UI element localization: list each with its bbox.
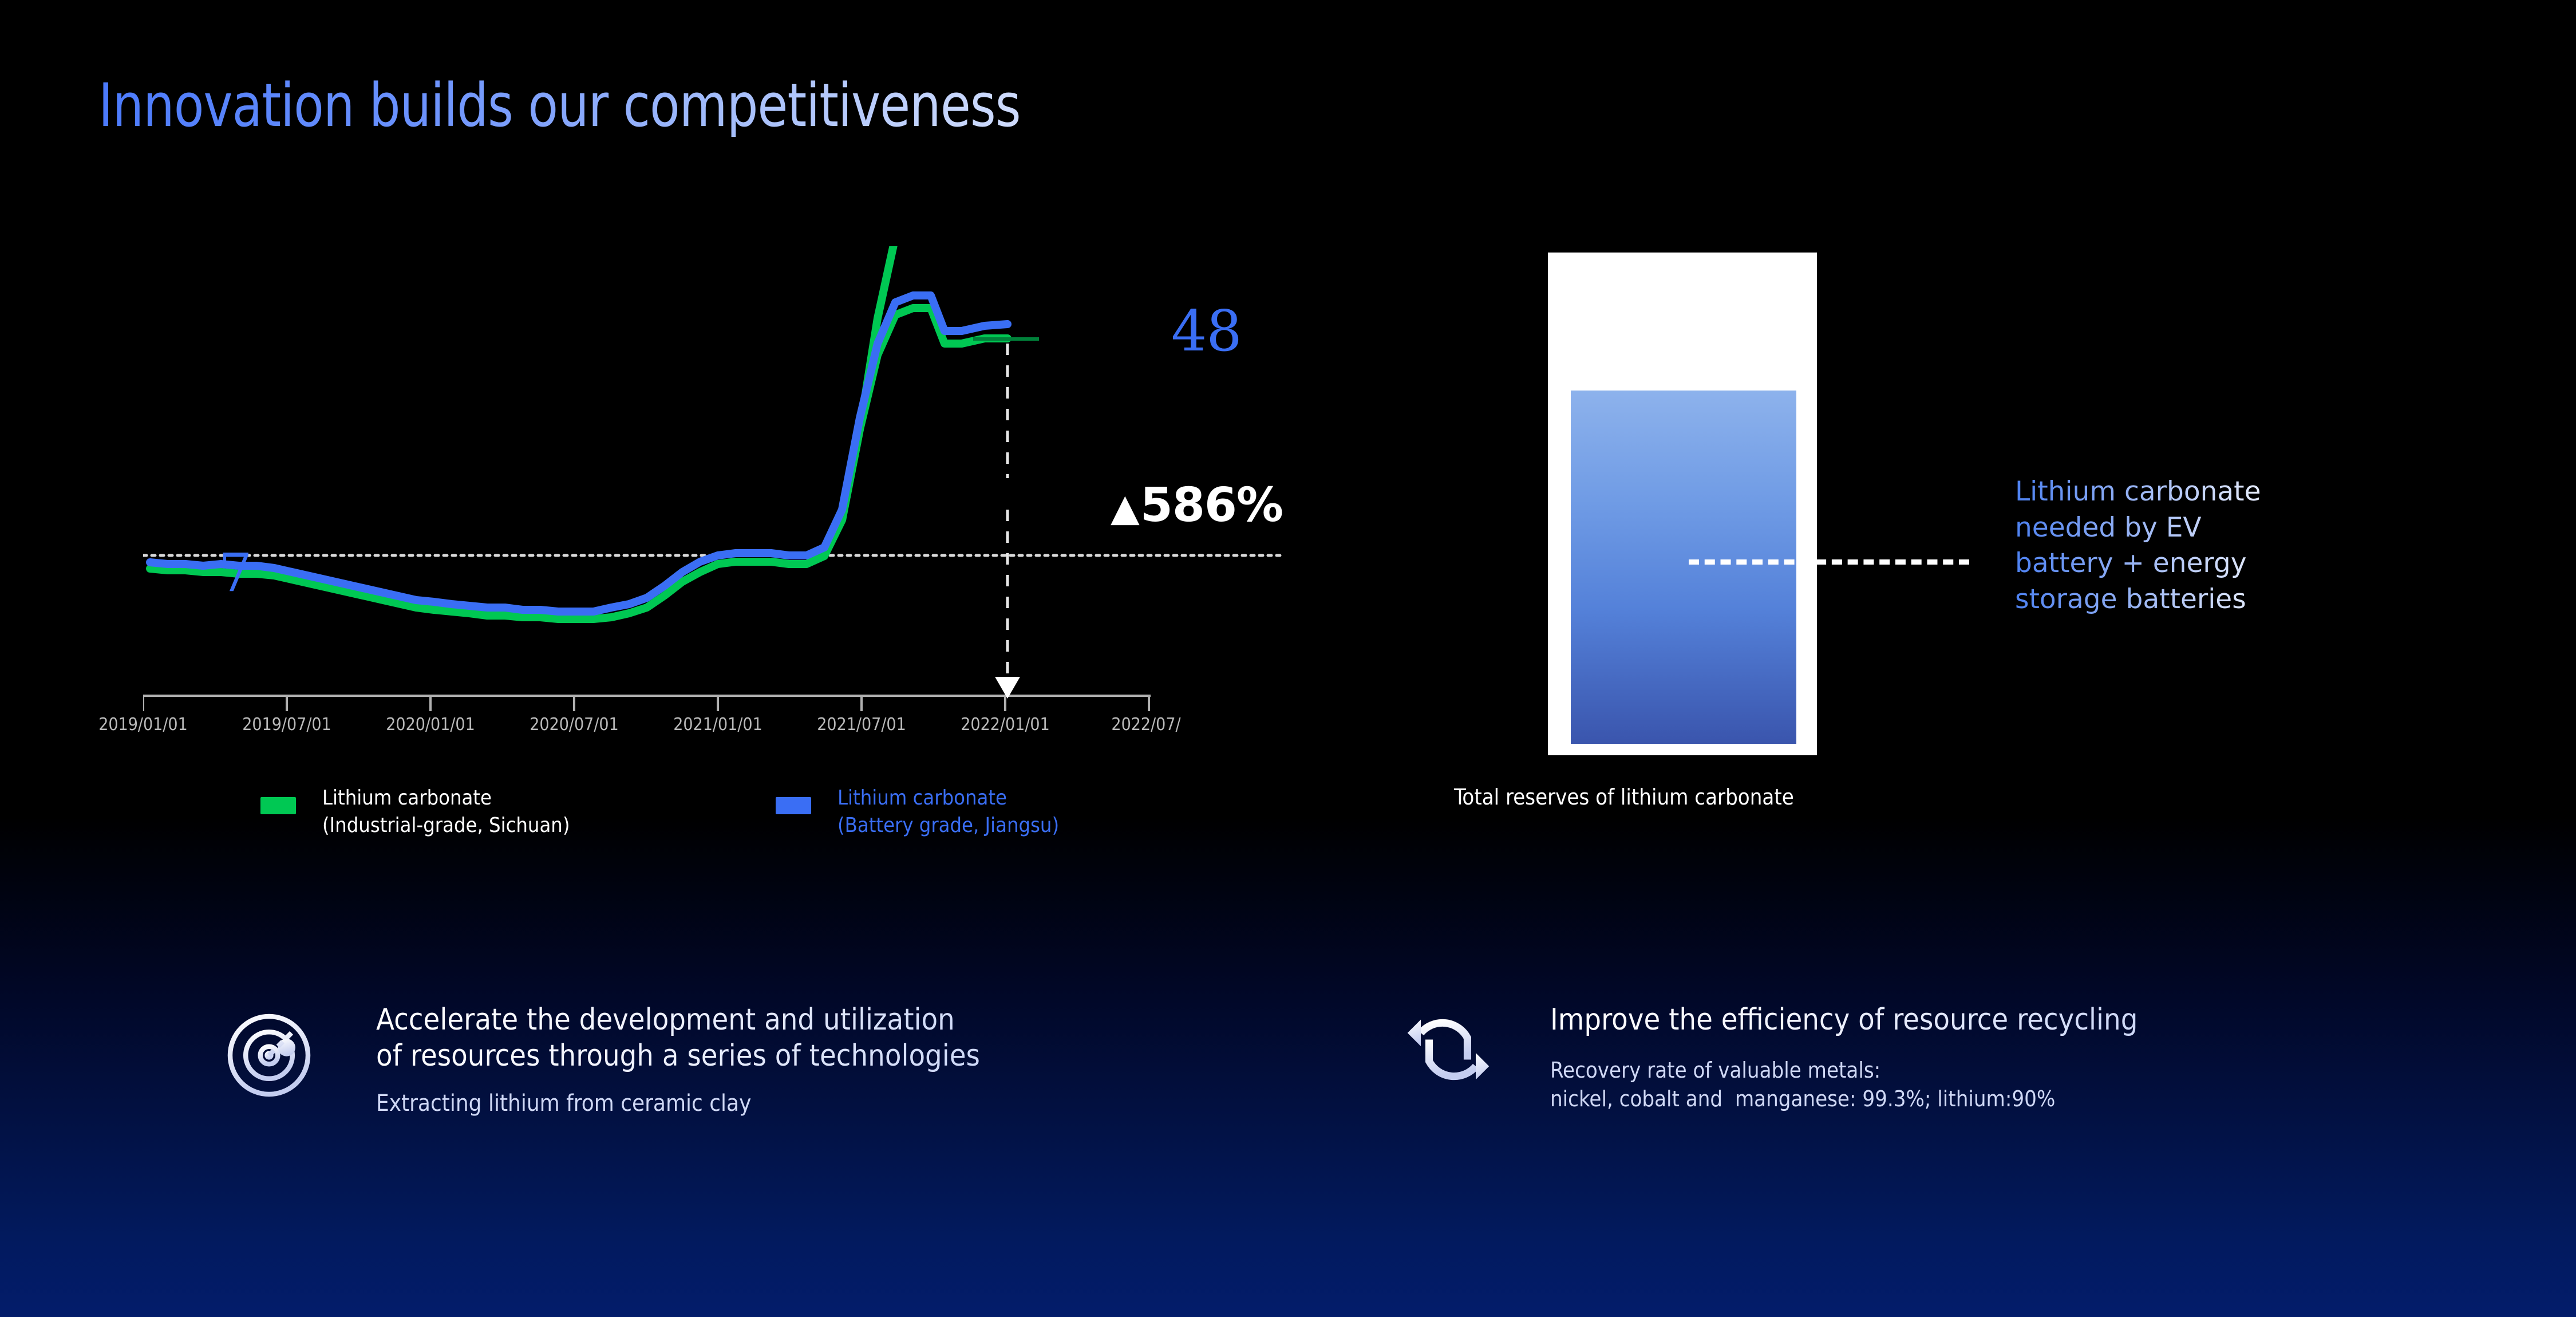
x-tick-6: 2022/01/01 xyxy=(961,715,1050,735)
legend-label-battery-line2: (Battery grade, Jiangsu) xyxy=(837,814,1059,837)
increase-percent: 586% xyxy=(1140,478,1283,533)
legend-label-battery: Lithium carbonate (Battery grade, Jiangs… xyxy=(837,784,1059,839)
feature-right-heading: Improve the efficiency of resource recyc… xyxy=(1550,1002,2138,1038)
reserves-note-line3: battery + energy xyxy=(2015,547,2247,579)
reserves-note-line2: needed by EV xyxy=(2015,512,2202,543)
legend-label-battery-line1: Lithium carbonate xyxy=(837,786,1007,810)
series-line-industrial xyxy=(150,246,949,619)
legend-swatch-industrial xyxy=(260,797,296,814)
feature-left-body: Accelerate the development and utilizati… xyxy=(376,1002,980,1118)
reserves-fill-level xyxy=(1571,391,1796,744)
x-tick-3: 2020/07/01 xyxy=(530,715,619,735)
feature-accelerate-development: Accelerate the development and utilizati… xyxy=(220,1002,980,1118)
series-line-battery xyxy=(150,295,1008,612)
reserves-caption: Total reserves of lithium carbonate xyxy=(1454,784,1794,810)
recycle-loop-icon xyxy=(1402,1007,1494,1095)
series-line-industrial-top xyxy=(824,308,1008,556)
x-tick-5: 2021/07/01 xyxy=(817,715,906,735)
legend-item-industrial[interactable]: Lithium carbonate (Industrial-grade, Sic… xyxy=(260,784,570,839)
chart-change-badge: ▲586% xyxy=(1111,478,1283,533)
page-title: Innovation builds our competitiveness xyxy=(98,74,1021,137)
x-tick-4: 2021/01/01 xyxy=(673,715,762,735)
legend-label-industrial: Lithium carbonate (Industrial-grade, Sic… xyxy=(322,784,570,839)
legend-label-industrial-line1: Lithium carbonate xyxy=(322,786,492,810)
feature-left-subtext: Extracting lithium from ceramic clay xyxy=(376,1089,980,1118)
x-tick-2: 2020/01/01 xyxy=(386,715,475,735)
reserves-note-line1: Lithium carbonate xyxy=(2015,476,2261,507)
reserves-note-line4: storage batteries xyxy=(2015,583,2246,615)
chart-legend: Lithium carbonate (Industrial-grade, Sic… xyxy=(260,784,1234,847)
x-tick-1: 2019/07/01 xyxy=(242,715,331,735)
slide-canvas: Innovation builds our competitiveness xyxy=(0,0,2576,1317)
x-tick-0: 2019/01/01 xyxy=(98,715,188,735)
radar-target-icon xyxy=(220,1007,318,1107)
x-axis-tick-labels: 2019/01/01 2019/07/01 2020/01/01 2020/07… xyxy=(143,715,1288,743)
reserves-demand-dashed-line xyxy=(1689,559,1969,565)
feature-left-heading: Accelerate the development and utilizati… xyxy=(376,1002,980,1075)
feature-resource-recycling: Improve the efficiency of resource recyc… xyxy=(1402,1002,2138,1113)
legend-label-industrial-line2: (Industrial-grade, Sichuan) xyxy=(322,814,570,837)
x-axis-ticks xyxy=(143,696,1149,711)
legend-item-battery[interactable]: Lithium carbonate (Battery grade, Jiangs… xyxy=(776,784,1059,839)
reserves-demand-note: Lithium carbonate needed by EV battery +… xyxy=(2015,474,2381,617)
increase-triangle-icon: ▲ xyxy=(1111,486,1139,530)
feature-right-subtext: Recovery rate of valuable metals: nickel… xyxy=(1550,1056,2138,1113)
x-tick-7: 2022/07/ xyxy=(1111,715,1180,735)
chart-end-value: 48 xyxy=(1171,303,1242,360)
legend-swatch-battery xyxy=(776,797,811,814)
feature-right-body: Improve the efficiency of resource recyc… xyxy=(1550,1002,2138,1113)
chart-start-value: 7 xyxy=(219,547,252,600)
